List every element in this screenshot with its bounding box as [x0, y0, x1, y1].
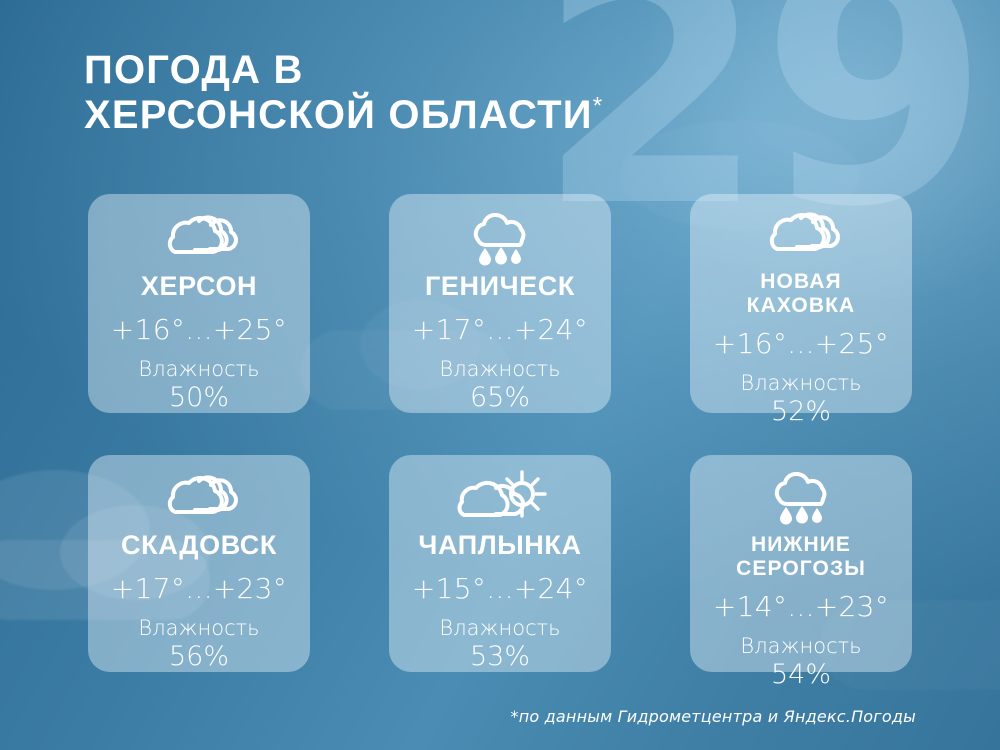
temperature-range: +15°...+24°: [412, 572, 588, 605]
humidity-label: Влажность: [439, 616, 560, 640]
rain-icon: [761, 469, 841, 527]
sun-cloud-icon: [450, 469, 550, 529]
source-note: *по данным Гидрометцентра и Яндекс.Погод…: [511, 707, 916, 726]
city-name: НОВАЯ КАХОВКА: [747, 270, 856, 318]
cloudy-icon: [151, 469, 247, 529]
humidity-value: 52%: [771, 396, 831, 427]
city-name: ГЕНИЧЕСК: [425, 272, 575, 301]
city-name: ЧАПЛЫНКА: [418, 531, 581, 560]
weather-card-kherson: ХЕРСОН +16°...+25° Влажность 50%: [88, 194, 310, 413]
weather-card-skadovsk: СКАДОВСК +17°...+23° Влажность 56%: [88, 455, 310, 672]
weather-card-henichesk: ГЕНИЧЕСК +17°...+24° Влажность 65%: [389, 194, 611, 413]
cloudy-icon: [753, 208, 849, 264]
city-name: СКАДОВСК: [121, 531, 277, 560]
weather-infographic: 29 ПОГОДА В ХЕРСОНСКОЙ ОБЛАСТИ* ХЕРСОН +…: [0, 0, 1000, 750]
humidity-label: Влажность: [138, 357, 259, 381]
humidity-value: 56%: [169, 641, 229, 672]
humidity-label: Влажность: [439, 357, 560, 381]
temperature-range: +17°...+24°: [412, 313, 588, 346]
humidity-label: Влажность: [740, 371, 861, 395]
page-title: ПОГОДА В ХЕРСОНСКОЙ ОБЛАСТИ*: [84, 48, 602, 138]
rain-icon: [460, 208, 540, 270]
temperature-range: +16°...+25°: [111, 313, 287, 346]
temperature-range: +14°...+23°: [713, 590, 889, 623]
weather-card-chaplynka: ЧАПЛЫНКА +15°...+24° Влажность 53%: [389, 455, 611, 672]
weather-card-nyzhni-serohozy: НИЖНИЕ СЕРОГОЗЫ +14°...+23° Влажность 54…: [690, 455, 912, 672]
page-title-line1: ПОГОДА В: [84, 48, 304, 92]
city-name: НИЖНИЕ СЕРОГОЗЫ: [736, 533, 866, 581]
humidity-value: 53%: [470, 641, 530, 672]
temperature-range: +17°...+23°: [111, 572, 287, 605]
humidity-label: Влажность: [740, 634, 861, 658]
weather-card-nova-kakhovka: НОВАЯ КАХОВКА +16°...+25° Влажность 52%: [690, 194, 912, 413]
humidity-value: 50%: [169, 382, 229, 413]
humidity-value: 65%: [470, 382, 530, 413]
temperature-range: +16°...+25°: [713, 327, 889, 360]
cloudy-icon: [151, 208, 247, 270]
weather-card-grid: ХЕРСОН +16°...+25° Влажность 50%: [88, 194, 912, 672]
city-name: ХЕРСОН: [141, 272, 257, 301]
humidity-label: Влажность: [138, 616, 259, 640]
title-asterisk: *: [593, 92, 602, 119]
humidity-value: 54%: [771, 659, 831, 690]
page-title-line2: ХЕРСОНСКОЙ ОБЛАСТИ: [84, 93, 593, 137]
